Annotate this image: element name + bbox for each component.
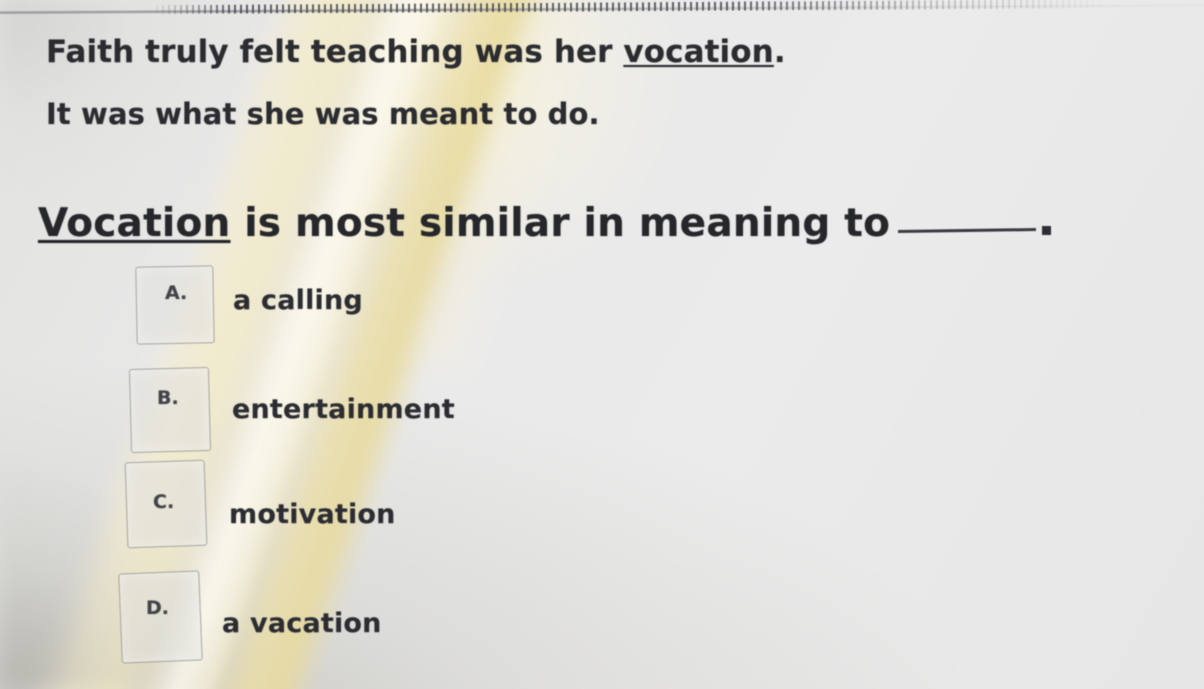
answer-option-a-text[interactable]: a calling (233, 285, 363, 316)
question-prompt-text: is most similar in meaning to (230, 201, 890, 246)
question-prompt: Vocation is most similar in meaning to (38, 201, 1051, 246)
answer-option-b-letter: B. (157, 387, 179, 409)
answer-option-c-text[interactable]: motivation (229, 499, 396, 530)
answer-blank-line (898, 228, 1036, 233)
passage-line-1: Faith truly felt teaching was her vocati… (46, 34, 786, 70)
question-keyword-vocation: Vocation (38, 201, 230, 246)
question-content: Faith truly felt teaching was her vocati… (0, 0, 1204, 689)
question-screenshot: Faith truly felt teaching was her vocati… (0, 0, 1204, 689)
passage-keyword-vocation: vocation (623, 34, 773, 70)
passage-line-2: It was what she was meant to do. (46, 97, 600, 131)
answer-option-b-text[interactable]: entertainment (232, 394, 455, 425)
passage-line-1-suffix: . (774, 34, 786, 70)
answer-option-b-box[interactable] (129, 367, 211, 453)
passage-line-1-prefix: Faith truly felt teaching was her (46, 34, 623, 70)
question-period-mark (1042, 226, 1051, 235)
answer-option-d-text[interactable]: a vacation (222, 608, 382, 639)
answer-option-c-letter: C. (153, 491, 174, 513)
answer-option-d-letter: D. (146, 597, 169, 619)
answer-option-a-box[interactable] (135, 265, 214, 344)
answer-option-a-letter: A. (165, 282, 187, 304)
